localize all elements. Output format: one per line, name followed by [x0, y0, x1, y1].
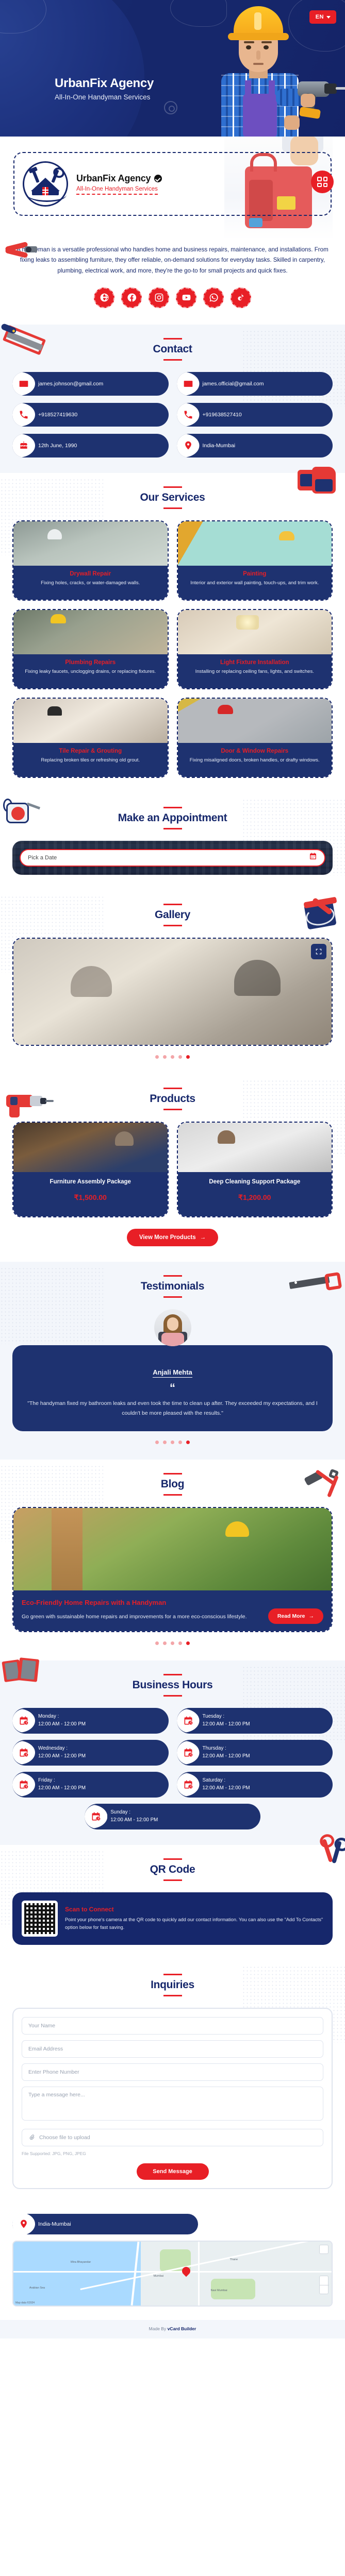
section-title: Make an Appointment [12, 812, 333, 824]
carousel-dot[interactable] [155, 1055, 159, 1059]
contact-value: james.official@gmail.com [203, 380, 264, 387]
business-hour-row: Monday : 12:00 AM - 12:00 PM [12, 1708, 169, 1734]
carousel-dot[interactable] [163, 1641, 167, 1645]
phone-input[interactable] [22, 2063, 323, 2081]
qr-card[interactable]: Scan to Connect Point your phone's camer… [12, 1892, 333, 1945]
hero-title: UrbanFix Agency [55, 76, 154, 91]
blog-heading: Blog [12, 1473, 333, 1496]
section-title: Contact [12, 343, 333, 355]
carousel-dot-active[interactable] [186, 1641, 190, 1645]
testimonial-author: Anjali Mehta [153, 1368, 192, 1378]
date-placeholder: Pick a Date [28, 855, 57, 861]
service-name: Door & Window Repairs [183, 748, 327, 754]
product-image [13, 1123, 168, 1172]
gallery-image [13, 939, 332, 1045]
calendar-clock-icon [177, 1741, 200, 1765]
youtube-icon[interactable] [176, 287, 196, 308]
carousel-dot[interactable] [178, 1440, 182, 1444]
service-description: Replacing broken tiles or refreshing old… [19, 757, 162, 764]
carousel-dot[interactable] [163, 1440, 167, 1444]
social-links-row [13, 287, 332, 308]
business-hour-row: Wednesday : 12:00 AM - 12:00 PM [12, 1740, 169, 1766]
about-section: UrbanFix Agency All-In-One Handyman Serv… [0, 137, 345, 325]
expand-icon[interactable] [311, 944, 326, 959]
phone-icon [177, 403, 200, 427]
business-hour-row: Friday : 12:00 AM - 12:00 PM [12, 1772, 169, 1798]
map-embed[interactable]: Mira-Bhayandar Mumbai Thane Navi Mumbai … [12, 2241, 333, 2307]
map-label: Mira-Bhayandar [71, 2261, 91, 2264]
carousel-dot[interactable] [155, 1641, 159, 1645]
contact-value: +918527419630 [38, 411, 77, 418]
testimonial-card: Anjali Mehta “ "The handyman fixed my ba… [12, 1345, 333, 1431]
service-description: Installing or replacing ceiling fans, li… [183, 668, 327, 675]
contact-section: Contact james.johnson@gmail.com james.of… [0, 325, 345, 473]
testimonials-section: Testimonials Anjali Mehta “ "The handyma… [0, 1262, 345, 1460]
qr-code-image [22, 1901, 58, 1937]
qr-code-icon [317, 177, 327, 187]
footer-text: Made By [149, 2326, 167, 2331]
section-title: Gallery [12, 909, 333, 921]
service-name: Painting [183, 571, 327, 577]
contact-value: james.johnson@gmail.com [38, 380, 103, 387]
contact-value: +919638527410 [203, 411, 242, 418]
service-name: Drywall Repair [19, 571, 162, 577]
footer-brand[interactable]: vCard Builder [168, 2326, 196, 2331]
business-hour-time: 12:00 AM - 12:00 PM [38, 1785, 86, 1791]
calendar-clock-icon [12, 1741, 35, 1765]
avatar [154, 1309, 191, 1346]
gallery-heading: Gallery [12, 904, 333, 926]
business-hour-day: Saturday : [203, 1777, 250, 1785]
section-title: Business Hours [12, 1679, 333, 1691]
carousel-dot-active[interactable] [186, 1055, 190, 1059]
contact-value: India-Mumbai [203, 442, 236, 449]
business-hour-time: 12:00 AM - 12:00 PM [38, 1753, 86, 1759]
carousel-dot[interactable] [155, 1440, 159, 1444]
testimonial-text: "The handyman fixed my bathroom leaks an… [23, 1399, 322, 1418]
footer: Made By vCard Builder [0, 2320, 345, 2338]
product-card[interactable]: Furniture Assembly Package ₹1,500.00 [12, 1122, 169, 1217]
service-image [13, 610, 168, 654]
products-grid: Furniture Assembly Package ₹1,500.00 Dee… [12, 1122, 333, 1217]
business-hour-row: Tuesday : 12:00 AM - 12:00 PM [177, 1708, 333, 1734]
appointment-heading: Make an Appointment [12, 807, 333, 829]
section-title: Blog [12, 1478, 333, 1490]
books-decoration [3, 1657, 41, 1684]
contact-item-phone-1[interactable]: +918527419630 [12, 403, 169, 427]
inquiries-heading: Inquiries [12, 1974, 333, 1996]
quote-mark-icon: “ [23, 1384, 322, 1392]
pliers-decoration [5, 242, 38, 260]
section-title: Products [12, 1093, 333, 1105]
contact-item-email-1[interactable]: james.johnson@gmail.com [12, 372, 169, 396]
business-hours-grid: Monday : 12:00 AM - 12:00 PM Tuesday : 1… [12, 1708, 333, 1829]
service-card[interactable]: Door & Window Repairs Fixing misaligned … [177, 698, 333, 778]
service-name: Plumbing Repairs [19, 659, 162, 666]
product-price: ₹1,200.00 [183, 1193, 327, 1202]
testimonial-block: Anjali Mehta “ "The handyman fixed my ba… [12, 1309, 333, 1431]
service-description: Fixing leaky faucets, unclogging drains,… [19, 668, 162, 675]
about-description: A handyman is a versatile professional w… [13, 245, 332, 276]
profile-card: UrbanFix Agency All-In-One Handyman Serv… [13, 152, 332, 216]
inquiry-form: Choose file to upload File Supported: JP… [12, 2008, 333, 2189]
blog-post-title: Eco-Friendly Home Repairs with a Handyma… [22, 1599, 323, 1606]
gear-icon [164, 101, 177, 114]
name-input[interactable] [22, 2017, 323, 2035]
phone-icon [12, 403, 35, 427]
wrench-decoration [306, 1837, 343, 1871]
carousel-dot[interactable] [171, 1641, 174, 1645]
business-hour-row: Sunday : 12:00 AM - 12:00 PM [85, 1804, 260, 1829]
hammer-wrench-decoration [305, 1468, 340, 1500]
service-description: Fixing holes, cracks, or water-damaged w… [19, 580, 162, 587]
section-title: Inquiries [12, 1979, 333, 1991]
email-icon [177, 372, 200, 396]
blog-section: Blog Eco-Friendly Home Repairs with a Ha… [0, 1460, 345, 1660]
service-image [178, 699, 332, 743]
product-card[interactable]: Deep Cleaning Support Package ₹1,200.00 [177, 1122, 333, 1217]
gloves-decoration [298, 466, 342, 503]
map-label: Thane [230, 2258, 238, 2261]
service-card[interactable]: Painting Interior and exterior wall pain… [177, 520, 333, 601]
read-more-button[interactable]: Read More → [268, 1608, 323, 1624]
service-image [13, 699, 168, 743]
business-hour-day: Wednesday : [38, 1745, 86, 1753]
business-hours-heading: Business Hours [12, 1674, 333, 1697]
service-description: Interior and exterior wall painting, tou… [183, 580, 327, 587]
calendar-icon[interactable] [309, 852, 317, 863]
map-location-pill[interactable]: India-Mumbai [12, 2214, 198, 2234]
calendar-clock-icon [177, 1773, 200, 1797]
handyman-photo [195, 3, 345, 137]
map-label: Navi Mumbai [211, 2289, 227, 2292]
map-attribution: Map data ©2024 [15, 2301, 35, 2304]
website-icon[interactable] [94, 287, 114, 308]
vcard-page: EN UrbanFix Agency All-In-One Handyman S… [0, 0, 345, 2338]
contact-grid: james.johnson@gmail.com james.official@g… [12, 372, 333, 457]
profile-name: UrbanFix Agency [76, 173, 151, 184]
blog-post-card[interactable]: Eco-Friendly Home Repairs with a Handyma… [12, 1507, 333, 1632]
qr-code-section: QR Code Scan to Connect Point your phone… [0, 1845, 345, 1960]
profile-tagline: All-In-One Handyman Services [76, 186, 158, 195]
blog-carousel-dots[interactable] [12, 1641, 333, 1645]
email-icon [12, 372, 35, 396]
contact-item-phone-2[interactable]: +919638527410 [177, 403, 333, 427]
hacksaw-decoration [3, 327, 50, 357]
services-section: Our Services Drywall Repair Fixing holes… [0, 473, 345, 793]
file-format-note: File Supported: JPG, PNG, JPEG [22, 2151, 323, 2156]
date-picker-input[interactable]: Pick a Date [20, 849, 325, 867]
button-label: Read More [277, 1613, 305, 1619]
paint-bucket-decoration [303, 893, 342, 930]
contact-value: 12th June, 1990 [38, 442, 77, 449]
message-textarea[interactable] [22, 2087, 323, 2121]
handsaw-decoration [289, 1271, 341, 1294]
service-card[interactable]: Plumbing Repairs Fixing leaky faucets, u… [12, 609, 169, 689]
business-hour-row: Thursday : 12:00 AM - 12:00 PM [177, 1740, 333, 1766]
button-label: View More Products [139, 1234, 196, 1241]
hero-banner: EN UrbanFix Agency All-In-One Handyman S… [0, 0, 345, 137]
map-zoom-controls[interactable] [319, 2276, 328, 2294]
send-message-button[interactable]: Send Message [137, 2163, 209, 2180]
contact-item-location[interactable]: India-Mumbai [177, 434, 333, 457]
product-image [178, 1123, 332, 1172]
inquiries-section: Inquiries Choose file to upload File Sup… [0, 1960, 345, 2205]
drill-decoration [4, 1090, 54, 1118]
service-image [178, 610, 332, 654]
qr-code-button[interactable] [311, 171, 334, 193]
arrow-right-icon: → [200, 1234, 206, 1241]
tape-measure-decoration [4, 798, 40, 826]
business-hour-time: 12:00 AM - 12:00 PM [110, 1817, 158, 1823]
carousel-dot[interactable] [163, 1055, 167, 1059]
arrow-right-icon: → [309, 1613, 315, 1619]
map-label: Mumbai [153, 2275, 163, 2278]
business-hour-day: Sunday : [110, 1809, 158, 1817]
service-image [13, 521, 168, 566]
service-card[interactable]: Drywall Repair Fixing holes, cracks, or … [12, 520, 169, 601]
calendar-clock-icon [12, 1773, 35, 1797]
services-heading: Our Services [12, 486, 333, 509]
gallery-section: Gallery [0, 890, 345, 1074]
calendar-clock-icon [177, 1709, 200, 1733]
carousel-dot[interactable] [171, 1055, 174, 1059]
testimonials-heading: Testimonials [12, 1275, 333, 1298]
carousel-dot-active[interactable] [186, 1440, 190, 1444]
file-upload-button[interactable]: Choose file to upload [22, 2129, 323, 2146]
business-hour-time: 12:00 AM - 12:00 PM [203, 1785, 250, 1791]
brand-logo [23, 161, 68, 207]
section-title: Our Services [12, 492, 333, 504]
qr-card-description: Point your phone's camera at the QR code… [65, 1916, 323, 1931]
view-more-products-button[interactable]: View More Products → [127, 1229, 218, 1246]
products-section: Products Furniture Assembly Package ₹1,5… [0, 1074, 345, 1262]
service-image [178, 521, 332, 566]
business-hour-time: 12:00 AM - 12:00 PM [203, 1753, 250, 1759]
product-name: Deep Cleaning Support Package [183, 1178, 327, 1187]
appointment-card: Pick a Date [12, 841, 333, 875]
tiktok-icon[interactable] [231, 287, 251, 308]
testimonial-carousel-dots[interactable] [12, 1440, 333, 1444]
cake-icon [12, 434, 35, 457]
section-title: QR Code [12, 1863, 333, 1876]
service-name: Light Fixture Installation [183, 659, 327, 666]
facebook-icon[interactable] [121, 287, 142, 308]
carousel-dot[interactable] [171, 1440, 174, 1444]
business-hour-row: Saturday : 12:00 AM - 12:00 PM [177, 1772, 333, 1798]
business-hour-day: Tuesday : [203, 1713, 250, 1721]
business-hour-day: Thursday : [203, 1745, 250, 1753]
business-hour-time: 12:00 AM - 12:00 PM [38, 1721, 86, 1727]
service-description: Fixing misaligned doors, broken handles,… [183, 757, 327, 764]
whatsapp-icon[interactable] [203, 287, 224, 308]
gallery-item[interactable] [12, 938, 333, 1046]
calendar-clock-icon [12, 1709, 35, 1733]
contact-heading: Contact [12, 338, 333, 361]
carousel-dot[interactable] [178, 1641, 182, 1645]
appointment-section: Make an Appointment Pick a Date [0, 793, 345, 890]
paperclip-icon [28, 2134, 35, 2141]
map-location-label: India-Mumbai [38, 2221, 71, 2228]
verified-badge-icon [154, 175, 162, 182]
blog-image [13, 1508, 332, 1590]
qr-heading: QR Code [12, 1858, 333, 1881]
product-price: ₹1,500.00 [19, 1193, 162, 1202]
carousel-dot[interactable] [178, 1055, 182, 1059]
location-icon [12, 2212, 35, 2236]
map-label: Arabian Sea [29, 2286, 45, 2290]
business-hours-section: Business Hours Monday : 12:00 AM - 12:00… [0, 1660, 345, 1845]
contact-item-email-2[interactable]: james.official@gmail.com [177, 372, 333, 396]
qr-card-title: Scan to Connect [65, 1906, 323, 1913]
calendar-clock-icon [85, 1805, 107, 1828]
map-section: India-Mumbai Mira-Bhayandar Mumbai Thane… [0, 2205, 345, 2320]
service-name: Tile Repair & Grouting [19, 748, 162, 754]
instagram-icon[interactable] [149, 287, 169, 308]
hero-text-block: UrbanFix Agency All-In-One Handyman Serv… [55, 76, 154, 101]
service-card[interactable]: Light Fixture Installation Installing or… [177, 609, 333, 689]
location-icon [177, 434, 200, 457]
business-hour-day: Monday : [38, 1713, 86, 1721]
products-heading: Products [12, 1088, 333, 1110]
contact-item-birthday[interactable]: 12th June, 1990 [12, 434, 169, 457]
email-input[interactable] [22, 2040, 323, 2058]
hero-subtitle: All-In-One Handyman Services [55, 93, 154, 101]
business-hour-day: Friday : [38, 1777, 86, 1785]
business-hour-time: 12:00 AM - 12:00 PM [203, 1721, 250, 1727]
section-title: Testimonials [12, 1280, 333, 1293]
services-grid: Drywall Repair Fixing holes, cracks, or … [12, 520, 333, 778]
gallery-carousel-dots[interactable] [12, 1055, 333, 1059]
file-upload-label: Choose file to upload [39, 2134, 90, 2141]
service-card[interactable]: Tile Repair & Grouting Replacing broken … [12, 698, 169, 778]
map-fullscreen-button[interactable] [319, 2245, 328, 2254]
product-name: Furniture Assembly Package [19, 1178, 162, 1187]
